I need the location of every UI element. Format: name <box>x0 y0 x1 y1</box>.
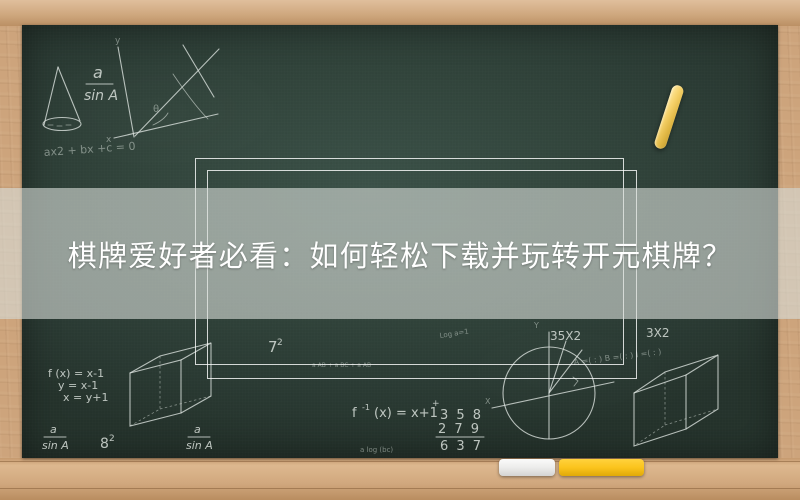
addition-problem: 3 5 8 2 7 9 6 3 7 + <box>432 399 484 454</box>
eight-squared: 8 2 <box>100 434 115 452</box>
svg-text:f (x) = x-1: f (x) = x-1 <box>48 367 104 380</box>
svg-text:+: + <box>432 399 440 409</box>
page-title: 棋牌爱好者必看：如何轻松下载并玩转开元棋牌？ <box>0 188 800 319</box>
frame-top-rail <box>0 0 800 26</box>
svg-text:x: x <box>106 135 112 145</box>
svg-text:sin A: sin A <box>186 439 213 452</box>
matrix-3x2: 3X2 <box>646 326 670 340</box>
svg-text:(x) = x+1: (x) = x+1 <box>374 406 438 421</box>
log-bc-note: a log (bc) <box>360 446 393 454</box>
svg-text:X: X <box>485 397 491 406</box>
svg-text:2 7 9: 2 7 9 <box>438 422 481 437</box>
svg-text:a: a <box>194 423 201 436</box>
function-equations: f (x) = x-1 y = x-1 x = y+1 <box>48 367 108 404</box>
svg-text:3 5 8: 3 5 8 <box>440 408 483 423</box>
frame-bottom-ledge <box>0 458 800 500</box>
svg-text:x = y+1: x = y+1 <box>63 391 108 404</box>
law-of-sines-top: a sin A <box>84 63 118 104</box>
svg-text:6 3 7: 6 3 7 <box>440 439 483 454</box>
svg-text:sin A: sin A <box>42 439 69 452</box>
eraser-yellow <box>559 459 644 476</box>
law-of-sines-bc: a sin A <box>186 423 213 452</box>
eraser-white <box>499 459 555 476</box>
svg-text:a: a <box>50 423 57 436</box>
svg-text:y = x-1: y = x-1 <box>58 379 98 392</box>
quadratic-equation: ax2 + bx +c = 0 <box>43 140 136 159</box>
svg-text:sin A: sin A <box>84 88 118 104</box>
svg-text:-1: -1 <box>362 403 370 412</box>
screenshot-root: a sin A ax2 + bx +c = 0 y x θ <box>0 0 800 500</box>
svg-text:8: 8 <box>100 436 109 452</box>
law-of-sines-bl: a sin A <box>42 423 69 452</box>
inverse-function: f -1 (x) = x+1 <box>352 403 438 421</box>
angle-axes-diagram: y x θ <box>106 36 219 145</box>
cube-drawing-right <box>634 355 718 446</box>
svg-text:a: a <box>93 63 103 82</box>
svg-text:f: f <box>352 406 357 421</box>
svg-text:y: y <box>115 36 121 46</box>
svg-text:θ: θ <box>153 104 159 115</box>
svg-text:2: 2 <box>109 434 115 444</box>
cone-drawing <box>43 67 81 131</box>
